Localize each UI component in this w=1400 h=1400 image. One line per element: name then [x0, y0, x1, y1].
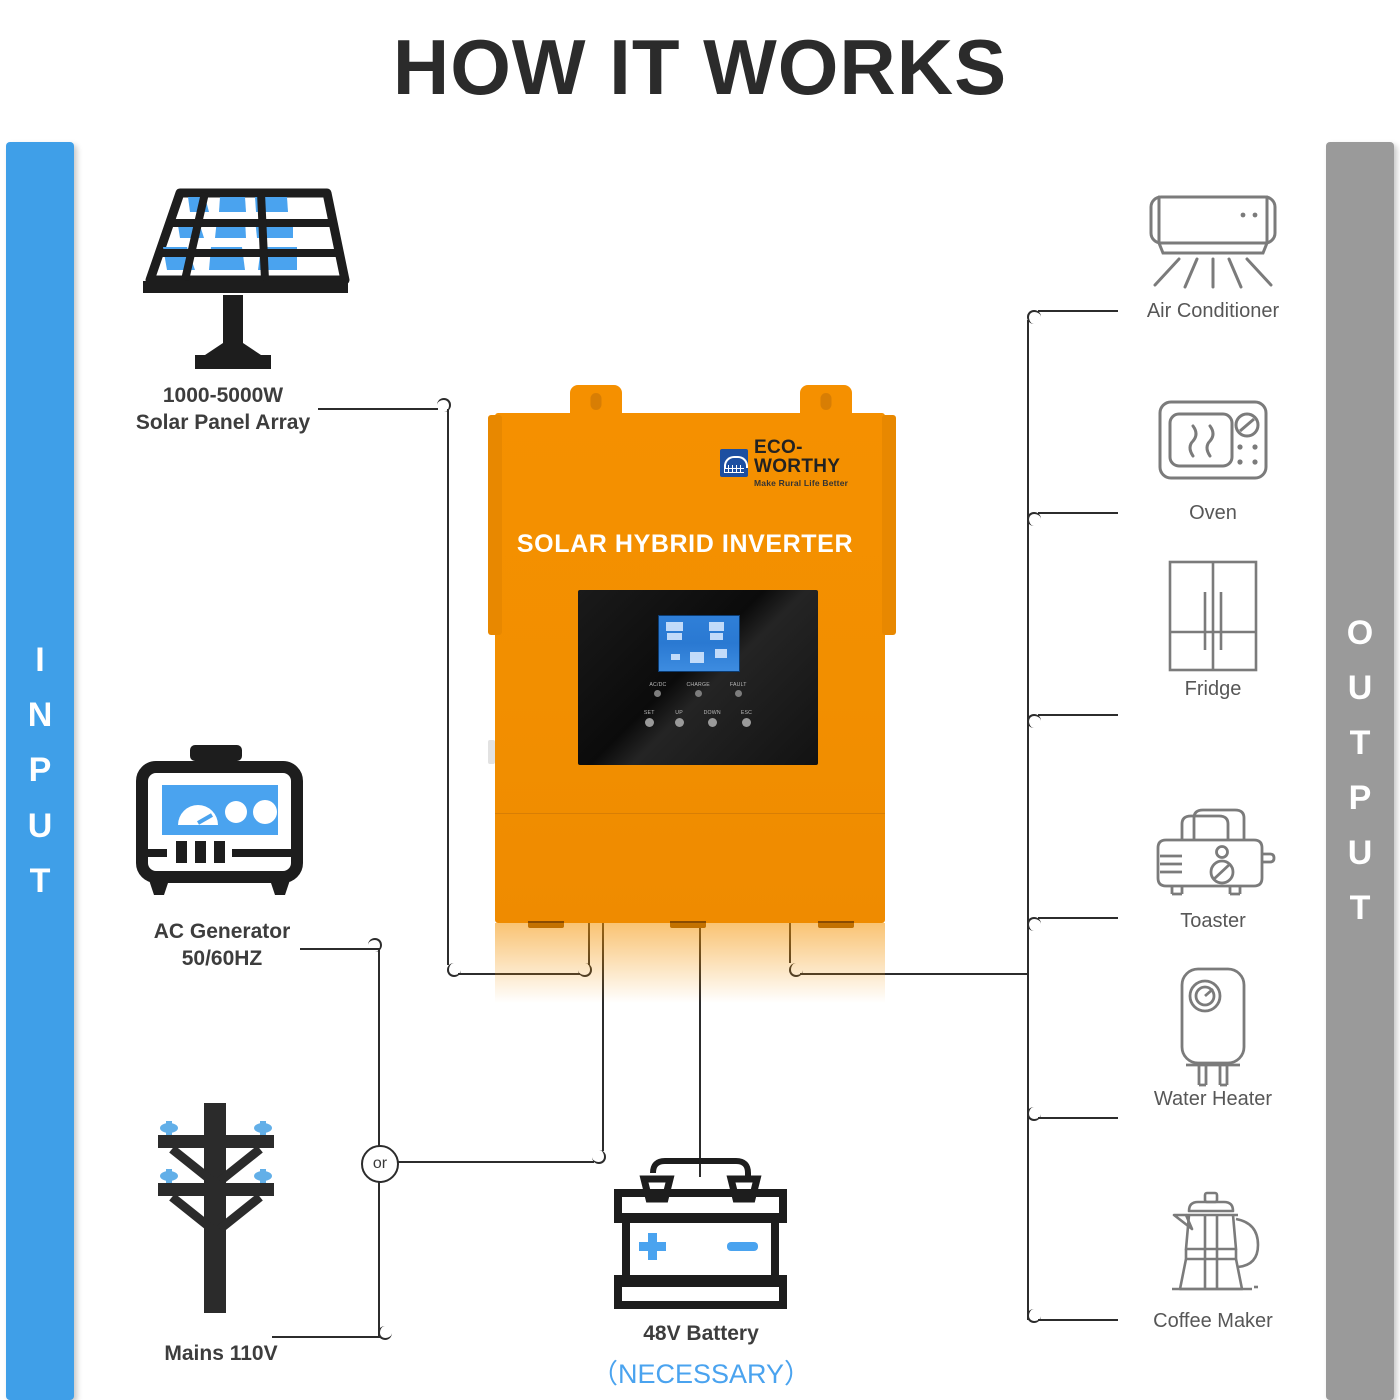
output-letter: T [1350, 881, 1371, 936]
inverter-control-panel: AC/DC CHARGE FAULT SET UP [578, 590, 818, 765]
wire-corner-ac [592, 1150, 606, 1164]
brand-name: ECO-WORTHY [754, 438, 880, 476]
inverter-brand: ECO-WORTHY Make Rural Life Better [720, 443, 880, 483]
ac-generator-caption-line2: 50/60HZ [86, 945, 358, 972]
input-letter: U [28, 799, 53, 854]
wire-mains-horizontal [272, 1336, 380, 1338]
wire-generator-vertical [378, 949, 380, 1146]
appliance-coffee-maker: Coffee Maker [1098, 1190, 1328, 1333]
ac-generator-caption: AC Generator 50/60HZ [86, 918, 358, 972]
led-charge: CHARGE [686, 682, 709, 697]
output-letter: P [1349, 771, 1372, 826]
button-up[interactable]: UP [675, 710, 684, 727]
appliance-label: Oven [1098, 502, 1328, 525]
car-battery-icon [608, 1155, 793, 1315]
inverter-clip [488, 740, 495, 764]
appliance-oven: Oven [1098, 382, 1328, 525]
fridge-icon [1098, 558, 1328, 674]
appliance-label: Toaster [1098, 910, 1328, 933]
output-letter: O [1347, 606, 1373, 661]
wire-solar-vertical [447, 409, 449, 965]
led-acdc: AC/DC [649, 682, 666, 697]
inverter-reflection [495, 923, 885, 1003]
water-heater-icon [1098, 968, 1328, 1084]
button-esc[interactable]: ESC [741, 710, 752, 727]
wire-corner-branch-1 [1027, 310, 1041, 324]
brand-tagline: Make Rural Life Better [754, 479, 880, 488]
wire-branch-fridge [1038, 714, 1118, 716]
wire-corner-branch-3 [1027, 714, 1041, 728]
inverter-product-title: SOLAR HYBRID INVERTER [470, 530, 900, 559]
inverter-side-left [488, 415, 502, 635]
wire-branch-water-heater [1038, 1117, 1118, 1119]
input-letter: I [35, 633, 44, 688]
solar-panel-caption-line2: Solar Panel Array [78, 409, 368, 436]
appliance-water-heater: Water Heater [1098, 968, 1328, 1111]
appliance-label: Water Heater [1098, 1088, 1328, 1111]
output-letter: T [1350, 716, 1371, 771]
appliance-air-conditioner: Air Conditioner [1098, 180, 1328, 323]
coffee-maker-icon [1098, 1190, 1328, 1306]
utility-pole-icon [150, 1095, 285, 1325]
mains-caption: Mains 110V [90, 1340, 352, 1367]
wire-output-bus [1027, 320, 1029, 1320]
appliance-toaster: Toaster [1098, 790, 1328, 933]
battery-caption-line2: （NECESSARY） [576, 1352, 826, 1391]
or-junction: or [361, 1145, 399, 1183]
inverter-seam [495, 813, 885, 814]
solar-hybrid-inverter: ECO-WORTHY Make Rural Life Better SOLAR … [470, 385, 900, 915]
button-set[interactable]: SET [644, 710, 655, 727]
inverter-led-row: AC/DC CHARGE FAULT [578, 682, 818, 697]
air-conditioner-icon [1098, 180, 1328, 296]
solar-panel-caption: 1000-5000W Solar Panel Array [78, 382, 368, 436]
inverter-button-row[interactable]: SET UP DOWN ESC [578, 710, 818, 727]
wire-corner-branch-2 [1027, 512, 1041, 526]
toaster-icon [1098, 790, 1328, 906]
output-sidebar: O U T P U T [1326, 142, 1394, 1400]
button-down[interactable]: DOWN [704, 710, 721, 727]
mains-caption-line1: Mains 110V [90, 1340, 352, 1367]
wire-corner-mains [378, 1326, 392, 1340]
input-letter: T [30, 854, 51, 909]
appliance-label: Fridge [1098, 678, 1328, 701]
page-title: HOW IT WORKS [0, 22, 1400, 113]
led-fault: FAULT [730, 682, 747, 697]
appliance-label: Air Conditioner [1098, 300, 1328, 323]
ac-generator-icon [128, 745, 313, 905]
input-letter: P [29, 743, 52, 798]
eco-worthy-logo-icon [720, 449, 748, 477]
oven-icon [1098, 382, 1328, 498]
inverter-side-right [882, 415, 896, 635]
diagram-canvas: HOW IT WORKS I N P U T O U T P U T or [0, 0, 1400, 1400]
wire-ac-horizontal [396, 1161, 594, 1163]
solar-panel-caption-line1: 1000-5000W [78, 382, 368, 409]
wire-mains-vertical [378, 1178, 380, 1338]
input-letter: N [28, 688, 53, 743]
ac-generator-caption-line1: AC Generator [86, 918, 358, 945]
appliance-fridge: Fridge [1098, 558, 1328, 701]
output-letter: U [1348, 661, 1373, 716]
lcd-display [658, 615, 740, 672]
input-sidebar: I N P U T [6, 142, 74, 1400]
solar-panel-icon [95, 175, 345, 370]
output-letter: U [1348, 826, 1373, 881]
appliance-label: Coffee Maker [1098, 1310, 1328, 1333]
wire-corner-branch-4 [1027, 917, 1041, 931]
battery-caption-line1: 48V Battery [576, 1322, 826, 1346]
